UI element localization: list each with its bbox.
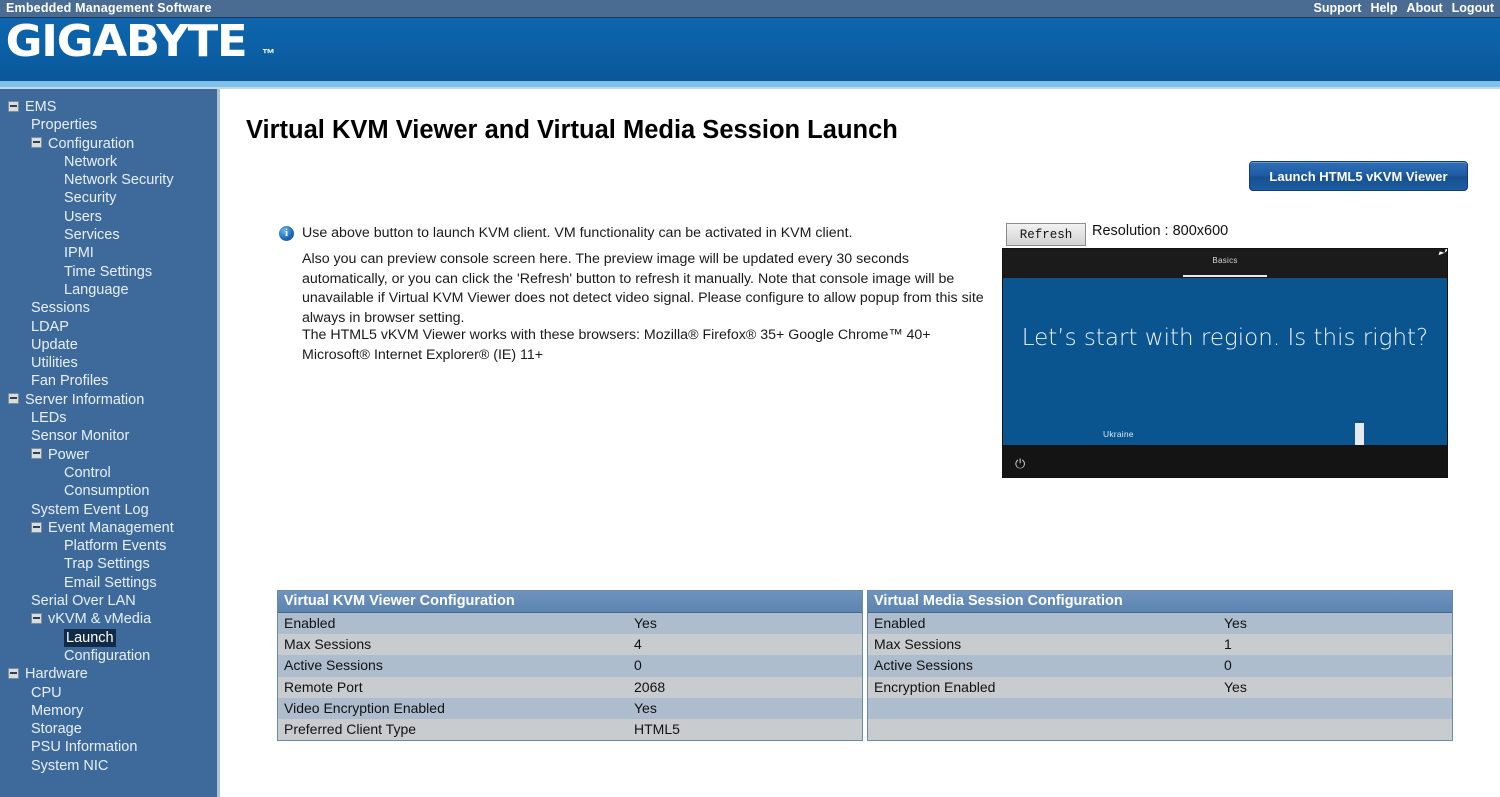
sidebar-item-label: Users: [64, 208, 102, 226]
table-cell-key: Max Sessions: [278, 634, 634, 655]
sidebar-item-utilities[interactable]: Utilities: [0, 354, 217, 372]
console-preview[interactable]: Basics Let’s start with region. Is this …: [1002, 248, 1448, 478]
nav-link-logout[interactable]: Logout: [1452, 1, 1494, 15]
sidebar-item-label: System Event Log: [31, 501, 149, 519]
virtual-kvm-viewer-configuration-table: Virtual KVM Viewer ConfigurationEnabledY…: [277, 590, 863, 741]
info-line-1: Use above button to launch KVM client. V…: [302, 225, 1002, 241]
sidebar-item-server-information[interactable]: Server Information: [0, 391, 217, 409]
top-nav-links: SupportHelpAboutLogout: [1305, 1, 1494, 15]
sidebar-item-system-nic[interactable]: System NIC: [0, 757, 217, 775]
table-cell-value: Yes: [634, 613, 862, 634]
sidebar-item-label: Hardware: [25, 665, 88, 683]
sidebar-item-label: LDAP: [31, 318, 69, 336]
sidebar-tree[interactable]: EMSPropertiesConfigurationNetworkNetwork…: [0, 89, 217, 775]
resolution-label: Resolution : 800x600: [1092, 223, 1228, 239]
nav-link-help[interactable]: Help: [1370, 1, 1397, 15]
sidebar-item-users[interactable]: Users: [0, 208, 217, 226]
table-row: Max Sessions1: [868, 634, 1452, 655]
sidebar-item-fan-profiles[interactable]: Fan Profiles: [0, 372, 217, 390]
sidebar-item-label: Configuration: [64, 647, 150, 665]
sidebar-item-properties[interactable]: Properties: [0, 116, 217, 134]
sidebar-item-psu-information[interactable]: PSU Information: [0, 738, 217, 756]
sidebar-item-sessions[interactable]: Sessions: [0, 299, 217, 317]
sidebar-item-update[interactable]: Update: [0, 336, 217, 354]
sidebar-item-serial-over-lan[interactable]: Serial Over LAN: [0, 592, 217, 610]
info-paragraph-2: The HTML5 vKVM Viewer works with these b…: [302, 326, 992, 365]
sidebar-item-label: Consumption: [64, 482, 149, 500]
table-cell-key: [868, 719, 1224, 740]
sidebar-item-label: System NIC: [31, 757, 108, 775]
sidebar-item-label: Utilities: [31, 354, 78, 372]
table-row: Encryption EnabledYes: [868, 677, 1452, 698]
collapse-expander-icon[interactable]: [31, 613, 42, 624]
launch-html5-vkvm-viewer-button[interactable]: Launch HTML5 vKVM Viewer: [1249, 161, 1468, 191]
sidebar-item-launch[interactable]: Launch: [0, 629, 217, 647]
console-headline: Let’s start with region. Is this right?: [1003, 325, 1447, 351]
sidebar-item-label: IPMI: [64, 244, 94, 262]
sidebar-item-system-event-log[interactable]: System Event Log: [0, 501, 217, 519]
refresh-button[interactable]: Refresh: [1006, 223, 1086, 246]
table-row: [868, 719, 1452, 740]
sidebar-item-label: Configuration: [48, 135, 134, 153]
sidebar-item-label: Security: [64, 189, 116, 207]
page-title: Virtual KVM Viewer and Virtual Media Ses…: [246, 116, 898, 145]
sidebar-item-language[interactable]: Language: [0, 281, 217, 299]
sidebar-item-label: Email Settings: [64, 574, 157, 592]
sidebar-item-label: Services: [64, 226, 120, 244]
sidebar-item-ldap[interactable]: LDAP: [0, 318, 217, 336]
sidebar-item-email-settings[interactable]: Email Settings: [0, 574, 217, 592]
console-bottom-bar: [1003, 445, 1447, 477]
sidebar-item-label: PSU Information: [31, 738, 137, 756]
collapse-expander-icon[interactable]: [31, 522, 42, 533]
collapse-expander-icon[interactable]: [8, 668, 19, 679]
table-cell-key: Remote Port: [278, 677, 634, 698]
region-option[interactable]: United Kingdom: [1093, 477, 1360, 478]
table-row: Max Sessions4: [278, 634, 862, 655]
console-screen: Let’s start with region. Is this right? …: [1003, 278, 1447, 445]
collapse-expander-icon[interactable]: [31, 448, 42, 459]
sidebar-item-label: Fan Profiles: [31, 372, 108, 390]
sidebar-item-label: Properties: [31, 116, 97, 134]
table-row: [868, 698, 1452, 719]
sidebar-item-leds[interactable]: LEDs: [0, 409, 217, 427]
table-row: EnabledYes: [868, 613, 1452, 634]
nav-link-support[interactable]: Support: [1314, 1, 1362, 15]
table-cell-value: HTML5: [634, 719, 862, 740]
table-cell-key: Encryption Enabled: [868, 677, 1224, 698]
table-row: EnabledYes: [278, 613, 862, 634]
collapse-expander-icon[interactable]: [8, 393, 19, 404]
gigabyte-logo: GIGABYTE: [6, 20, 247, 64]
table-cell-value: Yes: [1224, 677, 1452, 698]
sidebar-item-configuration[interactable]: Configuration: [0, 647, 217, 665]
sidebar-item-label: Serial Over LAN: [31, 592, 136, 610]
brand-band: GIGABYTE ™: [0, 18, 1500, 81]
table-cell-value: Yes: [1224, 613, 1452, 634]
table-cell-value: 0: [634, 655, 862, 676]
sidebar-navigation[interactable]: EMSPropertiesConfigurationNetworkNetwork…: [0, 89, 220, 797]
table-cell-key: Active Sessions: [868, 655, 1224, 676]
sidebar-item-hardware[interactable]: Hardware: [0, 665, 217, 683]
table-cell-value: 1: [1224, 634, 1452, 655]
sidebar-item-label: Control: [64, 464, 111, 482]
sidebar-item-vkvm-vmedia[interactable]: vKVM & vMedia: [0, 610, 217, 628]
sidebar-item-label: LEDs: [31, 409, 66, 427]
sidebar-item-services[interactable]: Services: [0, 226, 217, 244]
sidebar-item-label: Sensor Monitor: [31, 427, 129, 445]
sidebar-item-security[interactable]: Security: [0, 189, 217, 207]
sidebar-item-label: Launch: [64, 629, 116, 647]
table-cell-key: Active Sessions: [278, 655, 634, 676]
sidebar-item-label: Network Security: [64, 171, 174, 189]
table-title: Virtual Media Session Configuration: [868, 591, 1452, 613]
table-cell-key: Enabled: [278, 613, 634, 634]
sidebar-item-network-security[interactable]: Network Security: [0, 171, 217, 189]
sidebar-item-label: Language: [64, 281, 129, 299]
console-tab-basics: Basics: [1003, 256, 1447, 265]
table-row: Video Encryption EnabledYes: [278, 698, 862, 719]
app-title: Embedded Management Software: [6, 1, 212, 15]
nav-link-about[interactable]: About: [1407, 1, 1443, 15]
trademark-symbol: ™: [262, 46, 275, 61]
collapse-expander-icon[interactable]: [31, 137, 42, 148]
sidebar-item-label: Power: [48, 446, 89, 464]
table-title: Virtual KVM Viewer Configuration: [278, 591, 862, 613]
sidebar-item-label: CPU: [31, 684, 62, 702]
table-cell-value: [1224, 698, 1452, 719]
table-cell-value: [1224, 719, 1452, 740]
sidebar-item-network[interactable]: Network: [0, 153, 217, 171]
table-row: Preferred Client TypeHTML5: [278, 719, 862, 740]
sidebar-item-storage[interactable]: Storage: [0, 720, 217, 738]
table-cell-key: Enabled: [868, 613, 1224, 634]
console-tab-underline: [1183, 275, 1267, 277]
table-cell-value: 4: [634, 634, 862, 655]
sidebar-item-label: Time Settings: [64, 263, 152, 281]
sidebar-item-label: Platform Events: [64, 537, 166, 555]
power-icon[interactable]: ⏻: [1015, 457, 1028, 470]
table-row: Remote Port2068: [278, 677, 862, 698]
sidebar-item-label: Event Management: [48, 519, 174, 537]
table-cell-key: Max Sessions: [868, 634, 1224, 655]
sidebar-item-memory[interactable]: Memory: [0, 702, 217, 720]
sidebar-item-platform-events[interactable]: Platform Events: [0, 537, 217, 555]
sidebar-item-label: EMS: [25, 98, 56, 116]
sidebar-item-label: Update: [31, 336, 78, 354]
sidebar-item-consumption[interactable]: Consumption: [0, 482, 217, 500]
sidebar-item-control[interactable]: Control: [0, 464, 217, 482]
sidebar-item-label: Server Information: [25, 391, 144, 409]
sidebar-item-event-management[interactable]: Event Management: [0, 519, 217, 537]
sidebar-item-label: Network: [64, 153, 117, 171]
sidebar-item-ipmi[interactable]: IPMI: [0, 244, 217, 262]
sidebar-item-label: Sessions: [31, 299, 90, 317]
info-paragraph-1: Also you can preview console screen here…: [302, 250, 989, 328]
sidebar-item-power[interactable]: Power: [0, 446, 217, 464]
sidebar-item-label: vKVM & vMedia: [48, 610, 151, 628]
table-cell-key: Video Encryption Enabled: [278, 698, 634, 719]
sidebar-item-sensor-monitor[interactable]: Sensor Monitor: [0, 427, 217, 445]
table-row: Active Sessions0: [278, 655, 862, 676]
sidebar-item-trap-settings[interactable]: Trap Settings: [0, 555, 217, 573]
table-row: Active Sessions0: [868, 655, 1452, 676]
sidebar-item-time-settings[interactable]: Time Settings: [0, 263, 217, 281]
sidebar-item-cpu[interactable]: CPU: [0, 684, 217, 702]
table-cell-value: 2068: [634, 677, 862, 698]
table-cell-value: 0: [1224, 655, 1452, 676]
table-cell-key: Preferred Client Type: [278, 719, 634, 740]
sidebar-item-label: Storage: [31, 720, 82, 738]
main-content: Virtual KVM Viewer and Virtual Media Ses…: [220, 89, 1500, 797]
collapse-expander-icon[interactable]: [8, 101, 19, 112]
info-icon: i: [279, 226, 294, 241]
sidebar-item-label: Memory: [31, 702, 83, 720]
virtual-media-session-configuration-table: Virtual Media Session ConfigurationEnabl…: [867, 590, 1453, 741]
sidebar-item-label: Trap Settings: [64, 555, 150, 573]
table-cell-key: [868, 698, 1224, 719]
sidebar-item-ems[interactable]: EMS: [0, 98, 217, 116]
table-cell-value: Yes: [634, 698, 862, 719]
sidebar-item-configuration[interactable]: Configuration: [0, 135, 217, 153]
